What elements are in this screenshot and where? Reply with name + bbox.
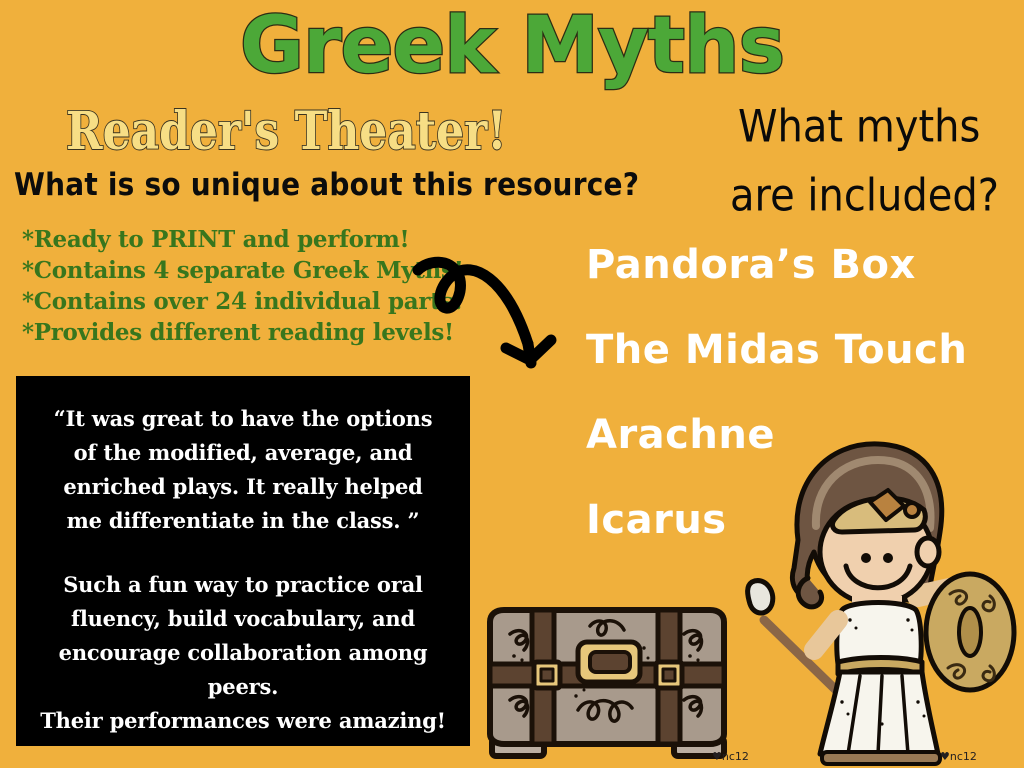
quote-line: “It was great to have the options: [48, 402, 438, 436]
quote-line: enriched plays. It really helped: [48, 470, 438, 504]
list-item: *Contains 4 separate Greek Myths!: [22, 255, 452, 286]
list-item-label: Provides different reading levels!: [34, 319, 454, 346]
myths-included-heading: What myths are included?: [730, 92, 1010, 231]
list-item-label: Ready to PRINT and perform!: [34, 226, 410, 253]
myths-heading-line1: What myths: [738, 92, 1010, 161]
praise-line: fluency, build vocabulary, and: [36, 602, 450, 636]
page-title: Greek Myths: [0, 4, 1024, 88]
testimonial-box: “It was great to have the options of the…: [16, 376, 470, 746]
list-item: *Contains over 24 individual parts!: [22, 286, 452, 317]
myth-item-pandoras-box: Pandora’s Box: [586, 243, 1006, 287]
list-item: *Provides different reading levels!: [22, 317, 452, 348]
testimonial-quote: “It was great to have the options of the…: [48, 402, 438, 538]
testimonial-praise: Such a fun way to practice oral fluency,…: [36, 568, 450, 738]
greek-goddess-icon: [742, 424, 1024, 768]
bullet-marker-icon: *: [22, 257, 34, 284]
bullet-marker-icon: *: [22, 288, 34, 315]
features-list: *Ready to PRINT and perform! *Contains 4…: [22, 224, 452, 348]
treasure-chest-icon: [478, 578, 734, 768]
unique-question-heading: What is so unique about this resource?: [14, 166, 639, 204]
myths-heading-line2: are included?: [730, 161, 1010, 230]
chest-artist-credit: ♥nc12: [712, 750, 749, 763]
list-item: *Ready to PRINT and perform!: [22, 224, 452, 255]
list-item-label: Contains over 24 individual parts!: [34, 288, 463, 315]
subtitle-readers-theater: Reader's Theater!: [66, 104, 507, 161]
quote-line: of the modified, average, and: [48, 436, 438, 470]
myth-item-the-midas-touch: The Midas Touch: [586, 328, 1006, 372]
bullet-marker-icon: *: [22, 319, 34, 346]
poster-canvas: Greek Myths Reader's Theater! What is so…: [0, 0, 1024, 768]
praise-line: Their performances were amazing!: [36, 704, 450, 738]
list-item-label: Contains 4 separate Greek Myths!: [34, 257, 464, 284]
praise-line: encourage collaboration among peers.: [36, 636, 450, 704]
bullet-marker-icon: *: [22, 226, 34, 253]
praise-line: Such a fun way to practice oral: [36, 568, 450, 602]
quote-line: me differentiate in the class. ”: [48, 504, 438, 538]
goddess-artist-credit: ♥nc12: [940, 750, 977, 763]
